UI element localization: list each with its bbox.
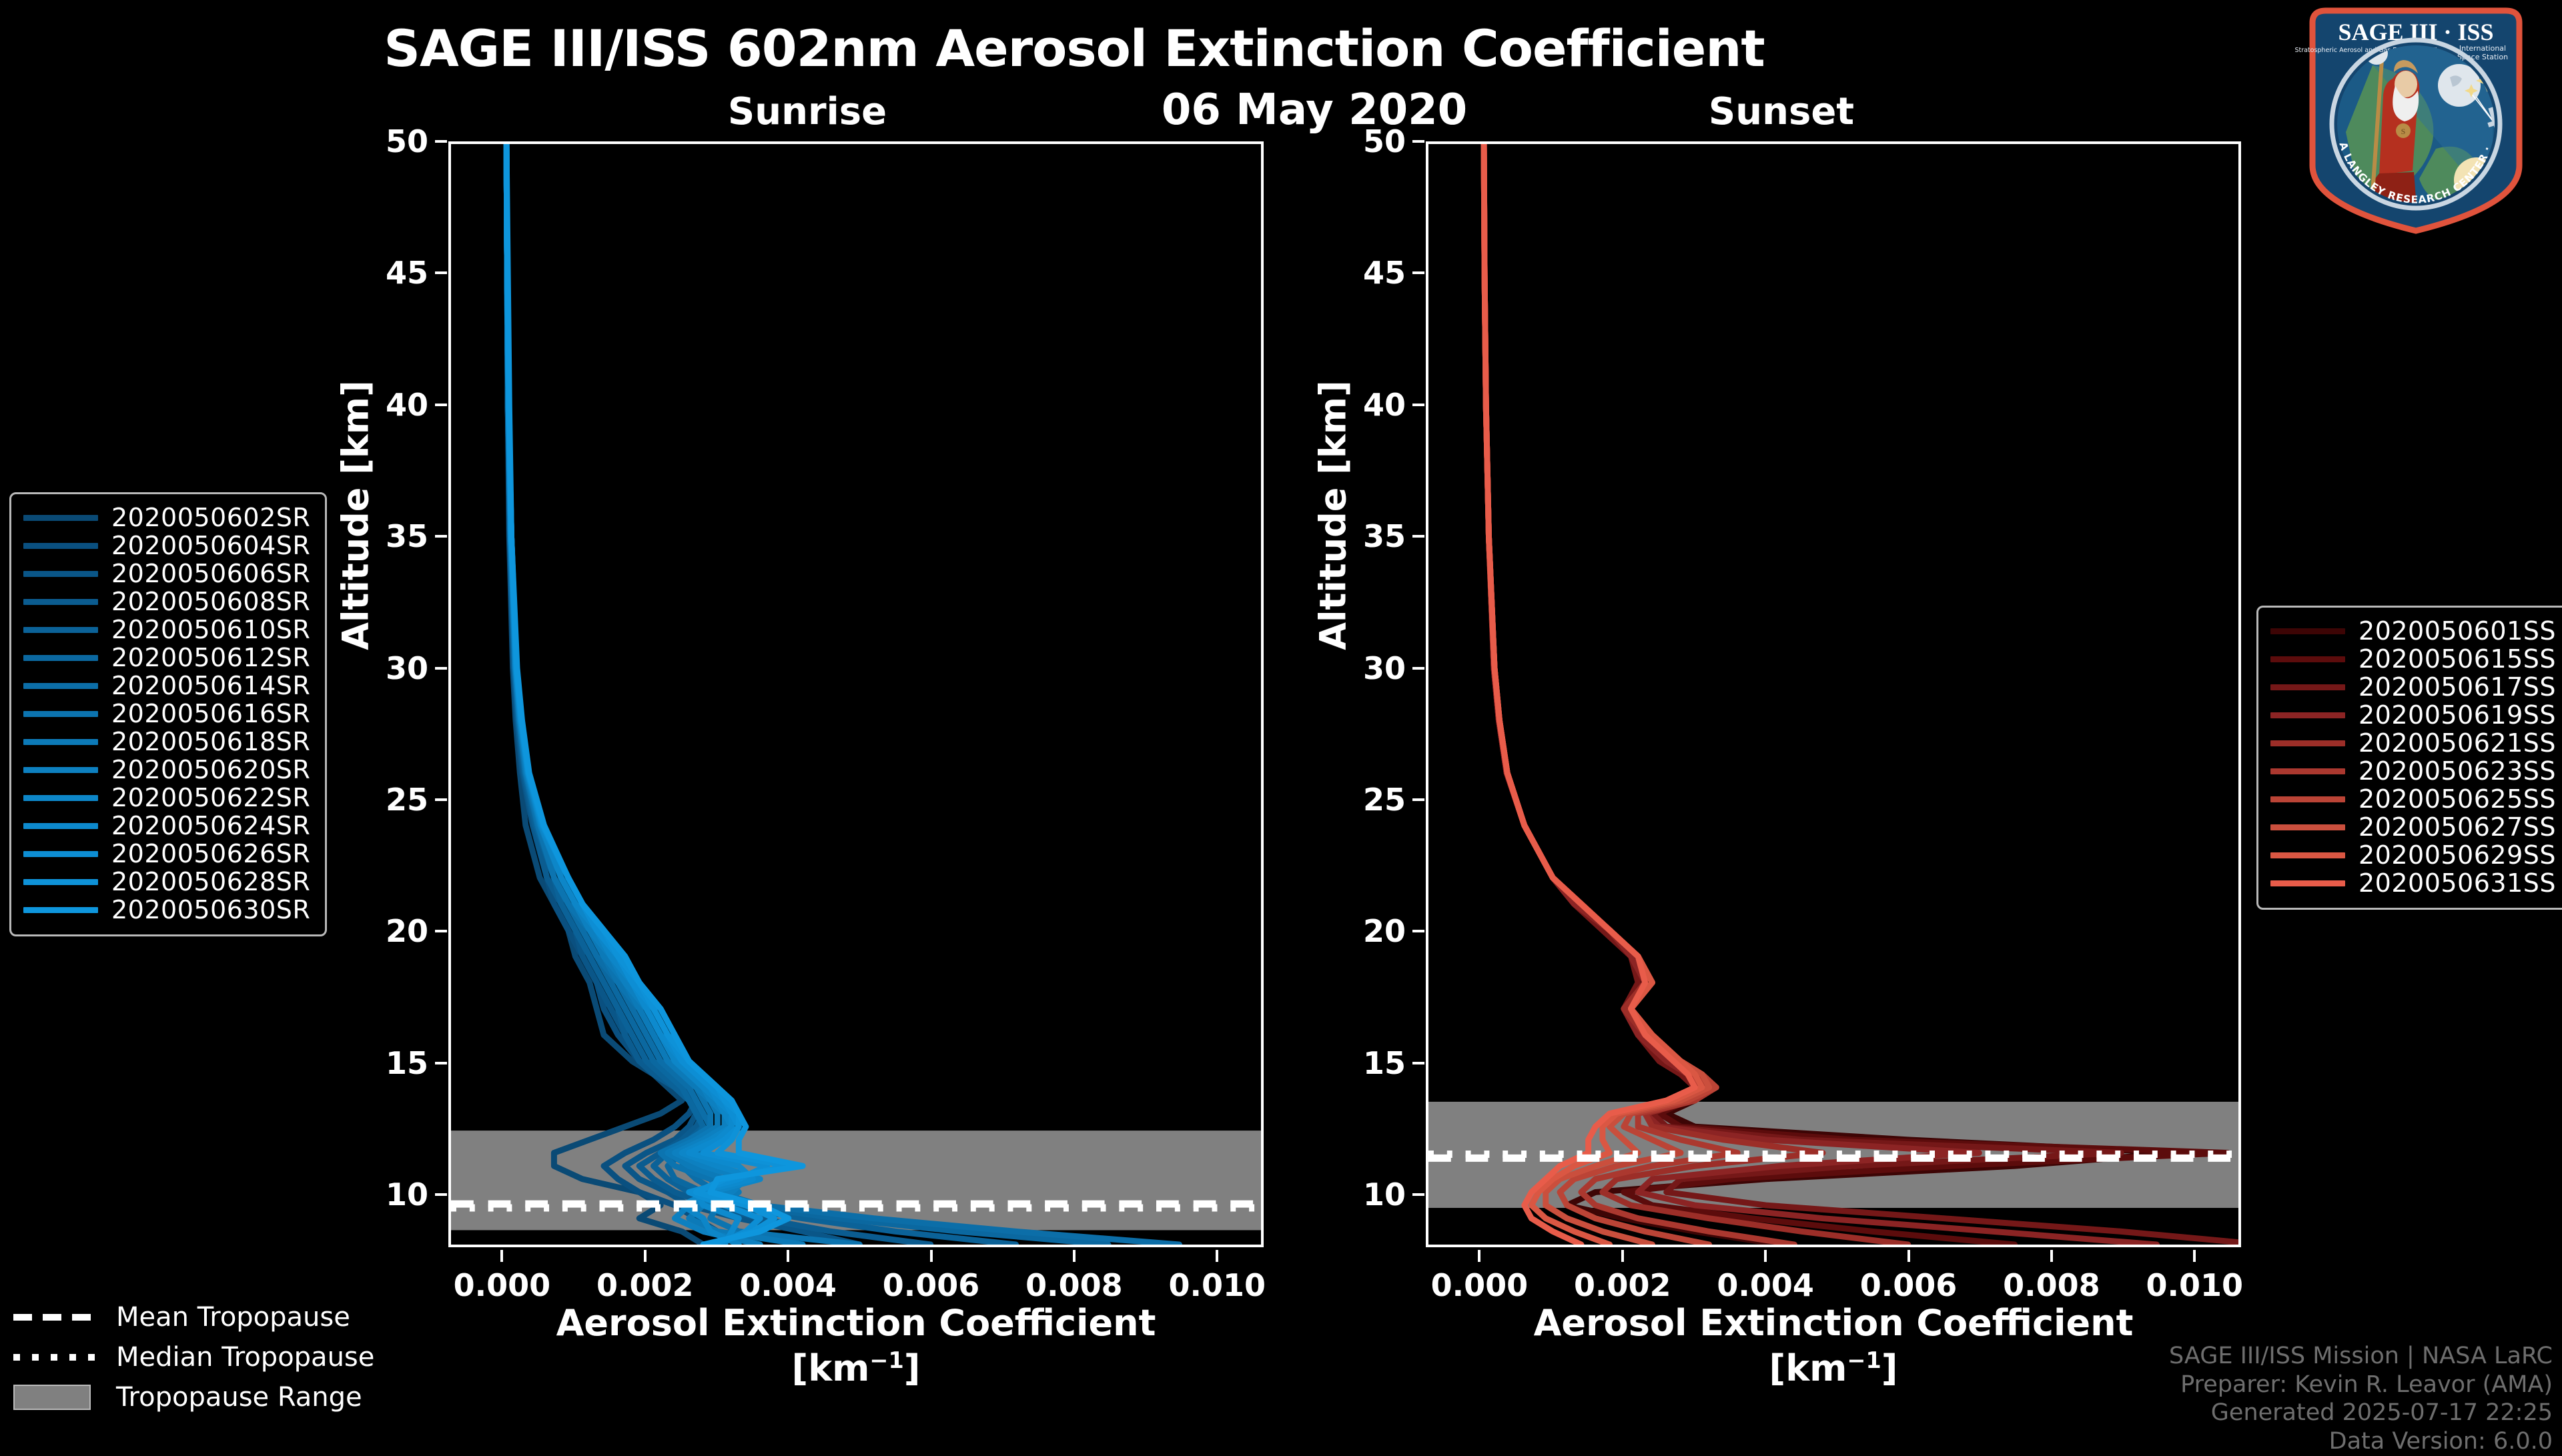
x-tick-label: 0.004 xyxy=(1692,1267,1839,1303)
x-tick-mark xyxy=(1764,1250,1767,1262)
legend-item[interactable]: 2020050606SR xyxy=(23,560,310,588)
legend-color-swatch xyxy=(23,515,98,521)
x-tick-mark xyxy=(2050,1250,2053,1262)
legend-label: 2020050616SR xyxy=(111,699,310,728)
y-tick-mark xyxy=(435,271,447,274)
legend-item[interactable]: 2020050619SS xyxy=(2270,701,2556,729)
legend-label-mean-tropopause: Mean Tropopause xyxy=(116,1302,350,1333)
date-subtitle: 06 May 2020 xyxy=(1047,85,1581,135)
legend-color-swatch xyxy=(23,767,98,773)
x-tick-mark xyxy=(2193,1250,2196,1262)
y-tick-label: 10 xyxy=(342,1177,428,1213)
legend-item[interactable]: 2020050608SR xyxy=(23,588,310,616)
legend-item[interactable]: 2020050622SR xyxy=(23,784,310,812)
legend-label: 2020050630SR xyxy=(111,895,310,924)
legend-label: 2020050615SS xyxy=(2359,644,2556,674)
y-tick-label: 20 xyxy=(342,913,428,949)
y-tick-mark xyxy=(435,1062,447,1064)
sunset-y-axis-label: Altitude [km] xyxy=(1312,315,1354,716)
legend-label: 2020050620SR xyxy=(111,755,310,784)
legend-item[interactable]: 2020050617SS xyxy=(2270,673,2556,701)
legend-label: 2020050602SR xyxy=(111,503,310,532)
legend-color-swatch xyxy=(2270,852,2345,858)
legend-color-swatch xyxy=(23,823,98,829)
y-tick-label: 10 xyxy=(1319,1177,1406,1213)
legend-label: 2020050604SR xyxy=(111,531,310,560)
x-tick-label: 0.006 xyxy=(1835,1267,1982,1303)
legend-color-swatch xyxy=(2270,796,2345,802)
y-tick-label: 50 xyxy=(1319,123,1406,159)
x-tick-mark xyxy=(1478,1250,1480,1262)
y-tick-mark xyxy=(435,404,447,406)
legend-item[interactable]: 2020050615SS xyxy=(2270,645,2556,673)
series-line-2020050615SS xyxy=(1484,144,2228,1245)
legend-item[interactable]: 2020050629SS xyxy=(2270,841,2556,869)
y-tick-label: 25 xyxy=(342,782,428,818)
legend-item[interactable]: 2020050616SR xyxy=(23,700,310,728)
sunrise-x-axis-label: Aerosol Extinction Coefficient [km−1] xyxy=(522,1301,1190,1391)
legend-color-swatch xyxy=(2270,768,2345,774)
sage-iii-iss-mission-patch-logo: SAGE III · ISS Stratospheric Aerosol and… xyxy=(2292,5,2539,235)
y-tick-mark xyxy=(1412,271,1424,274)
legend-color-swatch xyxy=(23,599,98,605)
legend-color-swatch xyxy=(23,683,98,689)
y-tick-mark xyxy=(1412,140,1424,143)
series-line-2020050628SR xyxy=(506,144,789,1245)
sunset-panel-title: Sunset xyxy=(1595,90,1968,133)
legend-color-swatch xyxy=(23,739,98,745)
legend-color-swatch xyxy=(2270,628,2345,634)
y-tick-mark xyxy=(435,535,447,538)
legend-item[interactable]: 2020050628SR xyxy=(23,868,310,896)
legend-color-swatch xyxy=(23,655,98,661)
y-tick-mark xyxy=(1412,798,1424,801)
logo-staff-initial: S xyxy=(2401,127,2406,136)
legend-item[interactable]: 2020050604SR xyxy=(23,532,310,560)
legend-label: 2020050608SR xyxy=(111,587,310,616)
legend-label: 2020050625SS xyxy=(2359,784,2556,814)
legend-label: 2020050612SR xyxy=(111,643,310,672)
y-tick-mark xyxy=(1412,667,1424,670)
credits-line-version: Data Version: 6.0.0 xyxy=(2169,1427,2553,1456)
sunrise-legend[interactable]: 2020050602SR2020050604SR2020050606SR2020… xyxy=(9,492,327,936)
y-tick-mark xyxy=(1412,404,1424,406)
series-line-2020050608SR xyxy=(506,144,931,1245)
dotted-line-icon xyxy=(13,1346,100,1369)
x-tick-label: 0.000 xyxy=(1406,1267,1553,1303)
legend-item[interactable]: 2020050625SS xyxy=(2270,785,2556,813)
logo-subtitle-right-1: International xyxy=(2459,44,2506,53)
y-tick-label: 50 xyxy=(342,123,428,159)
legend-label: 2020050621SS xyxy=(2359,728,2556,758)
legend-label: 2020050624SR xyxy=(111,811,310,840)
y-tick-mark xyxy=(1412,535,1424,538)
legend-color-swatch xyxy=(23,879,98,885)
legend-color-swatch xyxy=(2270,740,2345,746)
legend-label: 2020050629SS xyxy=(2359,840,2556,870)
legend-color-swatch xyxy=(2270,880,2345,886)
y-tick-label: 15 xyxy=(1319,1045,1406,1081)
legend-item[interactable]: 2020050626SR xyxy=(23,840,310,868)
y-tick-mark xyxy=(435,140,447,143)
sunrise-plot-svg xyxy=(451,144,1261,1245)
credits-line-generated: Generated 2025-07-17 22:25 xyxy=(2169,1399,2553,1427)
mission-patch-icon: SAGE III · ISS Stratospheric Aerosol and… xyxy=(2292,5,2539,235)
legend-item[interactable]: 2020050620SR xyxy=(23,756,310,784)
x-tick-mark xyxy=(930,1250,933,1262)
y-tick-label: 45 xyxy=(1319,255,1406,291)
x-tick-mark xyxy=(1907,1250,1910,1262)
y-tick-label: 45 xyxy=(342,255,428,291)
x-tick-label: 0.008 xyxy=(1001,1267,1148,1303)
x-tick-label: 0.006 xyxy=(858,1267,1005,1303)
x-tick-mark xyxy=(500,1250,503,1262)
legend-label-tropopause-range: Tropopause Range xyxy=(116,1382,362,1413)
series-line-2020050619SS xyxy=(1484,144,2156,1245)
y-tick-label: 20 xyxy=(1319,913,1406,949)
legend-item[interactable]: 2020050602SR xyxy=(23,504,310,532)
legend-label: 2020050614SR xyxy=(111,671,310,700)
y-tick-mark xyxy=(1412,1062,1424,1064)
legend-color-swatch xyxy=(23,851,98,857)
series-line-2020050631SS xyxy=(1484,144,1695,1245)
legend-item[interactable]: 2020050621SS xyxy=(2270,729,2556,757)
legend-label: 2020050618SR xyxy=(111,727,310,756)
legend-item[interactable]: 2020050627SS xyxy=(2270,813,2556,841)
legend-label: 2020050626SR xyxy=(111,839,310,868)
x-tick-label: 0.000 xyxy=(428,1267,575,1303)
series-line-2020050630SR xyxy=(506,144,803,1245)
y-tick-label: 25 xyxy=(1319,782,1406,818)
legend-item[interactable]: 2020050630SR xyxy=(23,896,310,924)
legend-label: 2020050623SS xyxy=(2359,756,2556,786)
series-line-2020050629SS xyxy=(1484,144,1702,1245)
legend-color-swatch xyxy=(23,627,98,633)
series-line-2020050614SR xyxy=(506,144,1179,1245)
legend-item[interactable]: 2020050618SR xyxy=(23,728,310,756)
page-title: SAGE III/ISS 602nm Aerosol Extinction Co… xyxy=(0,19,2148,78)
series-line-2020050604SR xyxy=(506,144,753,1245)
legend-label: 2020050622SR xyxy=(111,783,310,812)
x-tick-label: 0.002 xyxy=(1549,1267,1696,1303)
legend-label: 2020050610SR xyxy=(111,615,310,644)
legend-item[interactable]: 2020050612SR xyxy=(23,644,310,672)
credits-line-preparer: Preparer: Kevin R. Leavor (AMA) xyxy=(2169,1371,2553,1399)
x-tick-mark xyxy=(1216,1250,1218,1262)
credits-block: SAGE III/ISS Mission | NASA LaRC Prepare… xyxy=(2169,1342,2553,1456)
series-line-2020050622SR xyxy=(506,144,760,1245)
series-line-2020050620SR xyxy=(506,144,760,1245)
x-tick-mark xyxy=(787,1250,789,1262)
series-line-2020050627SS xyxy=(1484,144,1709,1245)
legend-item[interactable]: 2020050631SS xyxy=(2270,869,2556,897)
legend-color-swatch xyxy=(2270,824,2345,830)
legend-color-swatch xyxy=(23,543,98,549)
legend-item[interactable]: 2020050623SS xyxy=(2270,757,2556,785)
sunset-plot-svg xyxy=(1428,144,2238,1245)
y-tick-mark xyxy=(435,1193,447,1196)
y-tick-mark xyxy=(1412,930,1424,932)
legend-item-tropopause-range: Tropopause Range xyxy=(13,1377,374,1417)
series-line-2020050601SS xyxy=(1484,144,2178,1245)
legend-color-swatch xyxy=(2270,684,2345,690)
sunrise-panel-title: Sunrise xyxy=(620,90,994,133)
series-line-2020050624SR xyxy=(506,144,753,1245)
series-line-2020050623SS xyxy=(1484,144,1794,1245)
x-tick-mark xyxy=(1073,1250,1076,1262)
y-tick-mark xyxy=(1412,1193,1424,1196)
legend-color-swatch xyxy=(2270,656,2345,662)
sunset-legend[interactable]: 2020050601SS2020050615SS2020050617SS2020… xyxy=(2256,606,2562,910)
legend-label: 2020050627SS xyxy=(2359,812,2556,842)
legend-label: 2020050606SR xyxy=(111,559,310,588)
sunrise-x-axis-title: Aerosol Extinction Coefficient xyxy=(556,1302,1156,1344)
y-tick-mark xyxy=(435,798,447,801)
series-line-2020050626SR xyxy=(506,144,767,1245)
sunrise-y-axis-label: Altitude [km] xyxy=(335,315,377,716)
legend-item[interactable]: 2020050624SR xyxy=(23,812,310,840)
legend-color-swatch xyxy=(2270,712,2345,718)
sunset-plot-area xyxy=(1426,141,2241,1247)
x-tick-label: 0.008 xyxy=(1978,1267,2125,1303)
series-line-2020050625SS xyxy=(1484,144,1716,1245)
series-line-2020050617SS xyxy=(1484,144,2238,1245)
x-tick-label: 0.004 xyxy=(715,1267,861,1303)
legend-color-swatch xyxy=(23,795,98,801)
legend-label: 2020050617SS xyxy=(2359,672,2556,702)
tropopause-legend: Mean Tropopause Median Tropopause Tropop… xyxy=(13,1297,374,1417)
y-tick-mark xyxy=(435,930,447,932)
legend-item[interactable]: 2020050601SS xyxy=(2270,617,2556,645)
legend-label-median-tropopause: Median Tropopause xyxy=(116,1342,374,1373)
legend-label: 2020050631SS xyxy=(2359,868,2556,898)
y-tick-mark xyxy=(435,667,447,670)
legend-color-swatch xyxy=(23,711,98,717)
series-line-2020050618SR xyxy=(506,144,803,1245)
legend-item[interactable]: 2020050614SR xyxy=(23,672,310,700)
legend-item-mean-tropopause: Mean Tropopause xyxy=(13,1297,374,1337)
x-tick-mark xyxy=(1621,1250,1624,1262)
sunset-x-axis-title: Aerosol Extinction Coefficient xyxy=(1534,1302,2134,1344)
x-tick-label: 0.002 xyxy=(572,1267,719,1303)
legend-color-swatch xyxy=(23,571,98,577)
x-tick-mark xyxy=(644,1250,647,1262)
credits-line-mission: SAGE III/ISS Mission | NASA LaRC xyxy=(2169,1342,2553,1371)
y-tick-label: 15 xyxy=(342,1045,428,1081)
legend-label: 2020050601SS xyxy=(2359,616,2556,646)
sunrise-x-axis-units: [km−1] xyxy=(792,1347,921,1389)
legend-item[interactable]: 2020050610SR xyxy=(23,616,310,644)
legend-label: 2020050619SS xyxy=(2359,700,2556,730)
sunrise-plot-area xyxy=(448,141,1264,1247)
x-tick-label: 0.010 xyxy=(2121,1267,2268,1303)
series-line-2020050610SR xyxy=(506,144,1016,1245)
sunset-x-axis-label: Aerosol Extinction Coefficient [km−1] xyxy=(1500,1301,2167,1391)
legend-item-median-tropopause: Median Tropopause xyxy=(13,1337,374,1377)
legend-label: 2020050628SR xyxy=(111,867,310,896)
sunset-x-axis-units: [km−1] xyxy=(1769,1347,1898,1389)
series-line-2020050612SR xyxy=(506,144,1108,1245)
gray-band-icon xyxy=(13,1386,100,1409)
legend-color-swatch xyxy=(23,907,98,913)
x-tick-label: 0.010 xyxy=(1144,1267,1290,1303)
dashed-line-icon xyxy=(13,1306,100,1329)
